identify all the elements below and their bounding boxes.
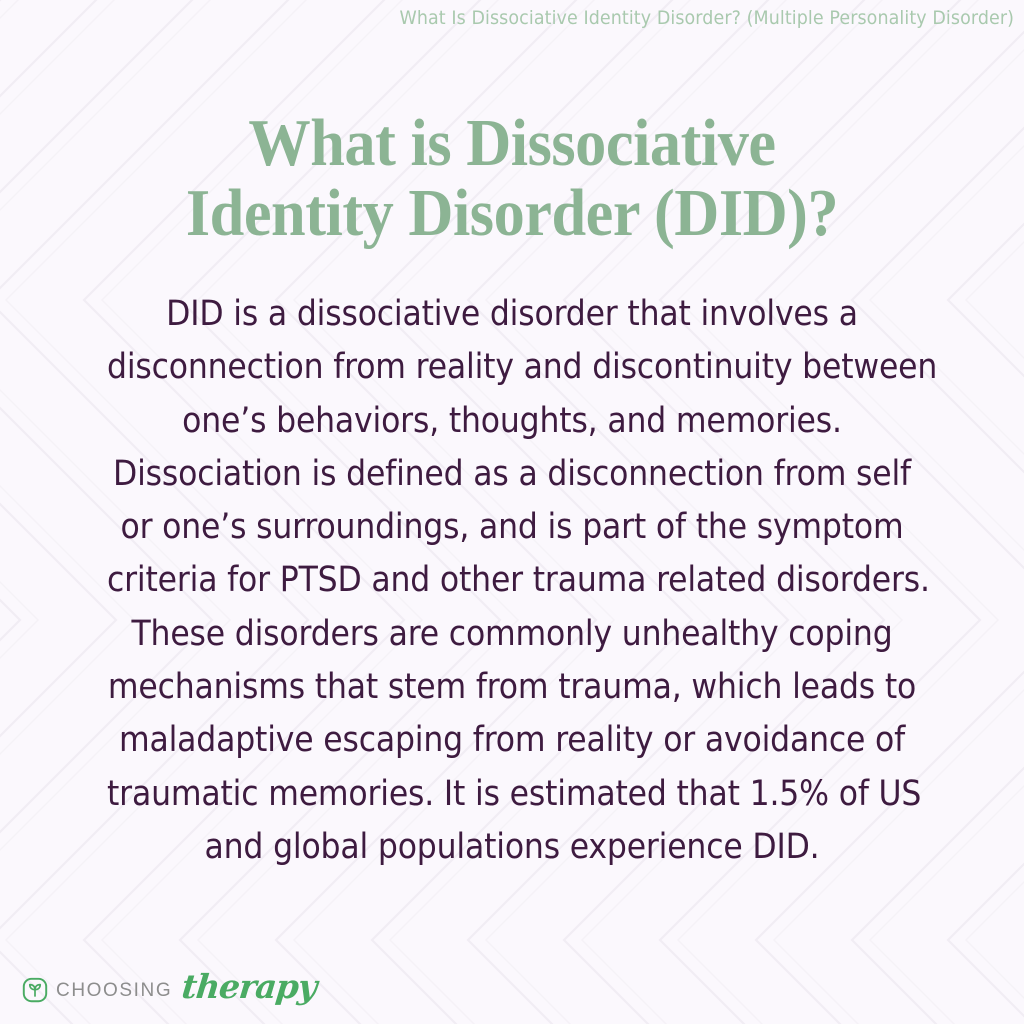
page-title: What is Dissociative Identity Disorder (… [0, 108, 1024, 248]
logo-word-therapy: therapy [181, 970, 319, 1003]
main-title-line-1: What is Dissociative [92, 108, 933, 178]
infographic-card: What Is Dissociative Identity Disorder? … [0, 0, 1024, 1024]
body-line: disconnection from reality and discontin… [107, 341, 917, 394]
header-bar: What Is Dissociative Identity Disorder? … [0, 0, 1024, 36]
body-line: criteria for PTSD and other trauma relat… [107, 554, 917, 607]
body-line: one’s behaviors, thoughts, and memories. [107, 395, 917, 448]
body-line: These disorders are commonly unhealthy c… [107, 608, 917, 661]
body-line: mechanisms that stem from trauma, which … [107, 661, 917, 714]
main-title-line-2: Identity Disorder (DID)? [92, 178, 933, 248]
body-line: traumatic memories. It is estimated that… [107, 768, 917, 821]
logo-word-choosing: CHOOSING [56, 981, 172, 1000]
brand-logo[interactable]: CHOOSING therapy [22, 973, 317, 1006]
body-line: or one’s surroundings, and is part of th… [107, 501, 917, 554]
leaf-badge-icon [22, 977, 48, 1003]
body-line: and global populations experience DID. [107, 821, 917, 874]
body-line: maladaptive escaping from reality or avo… [107, 714, 917, 767]
main-title: What is Dissociative Identity Disorder (… [36, 108, 988, 248]
header-article-title: What Is Dissociative Identity Disorder? … [399, 7, 1014, 29]
body-paragraph: DID is a dissociative disorder that invo… [62, 288, 962, 874]
body-line: Dissociation is defined as a disconnecti… [107, 448, 917, 501]
body-line: DID is a dissociative disorder that invo… [107, 288, 917, 341]
